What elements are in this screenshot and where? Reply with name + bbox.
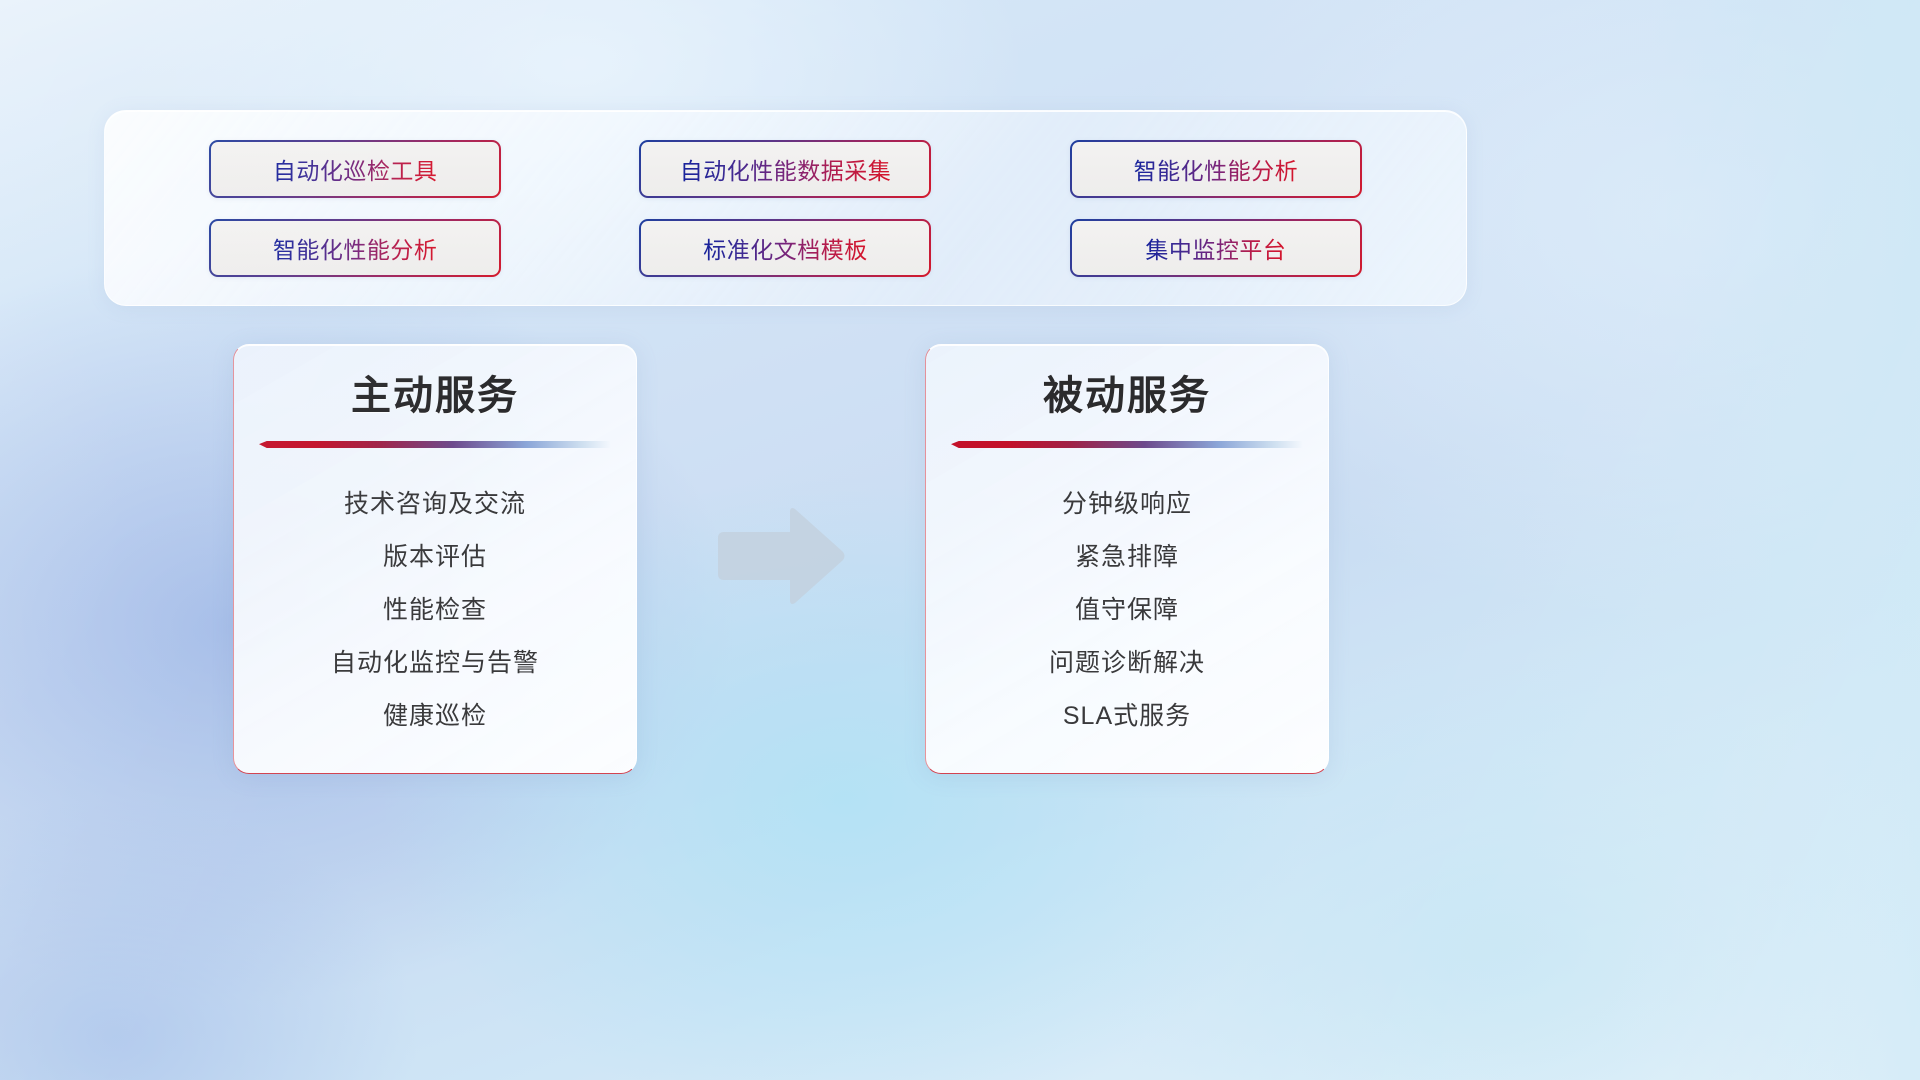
slide-canvas: 自动化巡检工具 自动化性能数据采集 智能化性能分析 智能化性能分析 标准化文档模…: [0, 0, 1920, 1080]
tool-chip-face: 自动化巡检工具: [211, 142, 499, 196]
card-divider: [951, 441, 1303, 448]
card-item-list: 分钟级响应 紧急排障 值守保障 问题诊断解决 SLA式服务: [950, 478, 1304, 743]
tool-chip-label: 标准化文档模板: [703, 231, 868, 265]
tool-chip-label: 智能化性能分析: [273, 231, 438, 265]
tool-chip-face: 自动化性能数据采集: [641, 142, 929, 196]
proactive-service-card: 主动服务 技术咨询及交流 版本评估 性能检查 自动化监控与告警 健康巡检: [233, 344, 637, 774]
tool-chip-0[interactable]: 自动化巡检工具: [209, 140, 501, 198]
list-item: 性能检查: [383, 584, 487, 637]
tool-chip-label: 智能化性能分析: [1134, 152, 1299, 186]
tool-chip-3[interactable]: 智能化性能分析: [209, 219, 501, 277]
card-item-list: 技术咨询及交流 版本评估 性能检查 自动化监控与告警 健康巡检: [258, 478, 612, 743]
list-item: 技术咨询及交流: [344, 478, 526, 531]
list-item: 问题诊断解决: [1049, 637, 1205, 690]
tool-chip-face: 智能化性能分析: [1072, 142, 1360, 196]
list-item: 自动化监控与告警: [331, 637, 539, 690]
tool-chip-label: 自动化性能数据采集: [680, 152, 892, 186]
flow-arrow: [716, 504, 848, 608]
tool-chip-2[interactable]: 智能化性能分析: [1070, 140, 1362, 198]
right-arrow-icon: [716, 504, 848, 608]
reactive-service-card: 被动服务 分钟级响应 紧急排障 值守保障 问题诊断解决 SLA式服务: [925, 344, 1329, 774]
tool-chip-label: 集中监控平台: [1145, 231, 1286, 265]
list-item: 分钟级响应: [1062, 478, 1192, 531]
list-item: 值守保障: [1075, 584, 1179, 637]
capability-tools-panel: 自动化巡检工具 自动化性能数据采集 智能化性能分析 智能化性能分析 标准化文档模…: [104, 110, 1467, 306]
card-divider: [259, 441, 611, 448]
tool-chip-face: 标准化文档模板: [641, 221, 929, 275]
list-item: 版本评估: [383, 531, 487, 584]
tool-chip-face: 集中监控平台: [1072, 221, 1360, 275]
list-item: 健康巡检: [383, 690, 487, 743]
list-item: 紧急排障: [1075, 531, 1179, 584]
tool-chip-4[interactable]: 标准化文档模板: [639, 219, 931, 277]
card-title: 被动服务: [1043, 373, 1211, 419]
tool-chip-5[interactable]: 集中监控平台: [1070, 219, 1362, 277]
tool-chip-face: 智能化性能分析: [211, 221, 499, 275]
list-item: SLA式服务: [1063, 690, 1191, 743]
card-title: 主动服务: [351, 373, 519, 419]
tool-chip-label: 自动化巡检工具: [273, 152, 438, 186]
tool-chip-1[interactable]: 自动化性能数据采集: [639, 140, 931, 198]
